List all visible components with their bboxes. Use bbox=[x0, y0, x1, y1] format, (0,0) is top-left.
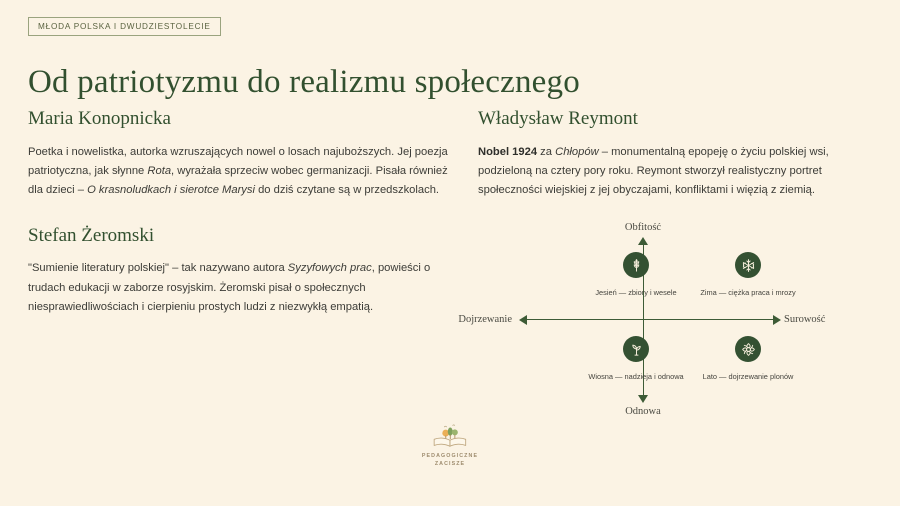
snowflake-icon bbox=[735, 252, 761, 278]
sun-flower-icon bbox=[735, 336, 761, 362]
section-paragraph-zeromski: "Sumienie literatury polskiej" – tak naz… bbox=[28, 259, 448, 317]
section-paragraph-konopnicka: Poetka i nowelistka, autorka wzruszający… bbox=[28, 143, 448, 201]
axis-arrow-right-icon bbox=[773, 315, 781, 325]
text-run: do dziś czytane są w przedszkolach. bbox=[255, 184, 439, 196]
text-run: za bbox=[537, 146, 555, 158]
slide-root: MŁODA POLSKA I DWUDZIESTOLECIE Od patrio… bbox=[0, 0, 900, 506]
section-paragraph-reymont: Nobel 1924 za Chłopów – monumentalną epo… bbox=[478, 143, 878, 201]
quadrant-label-zima: Zima — ciężka praca i mrozy bbox=[700, 288, 796, 299]
axis-label-left: Dojrzewanie bbox=[458, 314, 512, 325]
axis-label-top: Obfitość bbox=[625, 222, 661, 233]
footer-brand: PEDAGOGICZNE ZACISZE bbox=[395, 423, 505, 468]
title-italic-rota: Rota bbox=[147, 165, 171, 177]
horizontal-axis-line bbox=[526, 319, 776, 320]
footer-brand-line-1: PEDAGOGICZNE bbox=[395, 452, 505, 460]
eyebrow-badge: MŁODA POLSKA I DWUDZIESTOLECIE bbox=[28, 17, 221, 36]
quadrant-point-jesien: Jesień — zbiory i wesele bbox=[588, 252, 684, 299]
wheat-sheaf-icon bbox=[623, 252, 649, 278]
axis-label-right: Surowość bbox=[784, 314, 825, 325]
axis-arrow-up-icon bbox=[638, 237, 648, 245]
sprout-icon bbox=[623, 336, 649, 362]
page-title: Od patriotyzmu do realizmu społecznego bbox=[28, 64, 580, 102]
seasons-quadrant-chart: Obfitość Odnowa Dojrzewanie Surowość Jes… bbox=[478, 222, 878, 418]
section-heading-reymont: Władysław Reymont bbox=[478, 108, 878, 131]
eyebrow-wrap: MŁODA POLSKA I DWUDZIESTOLECIE bbox=[28, 16, 221, 36]
axis-label-bottom: Odnowa bbox=[625, 406, 661, 417]
quadrant-label-wiosna: Wiosna — nadzieja i odnowa bbox=[588, 372, 684, 383]
left-column: Maria Konopnicka Poetka i nowelistka, au… bbox=[28, 108, 448, 317]
quadrant-label-lato: Lato — dojrzewanie plonów bbox=[700, 372, 796, 383]
title-italic-syzyfowe-prace: Syzyfowych prac bbox=[288, 262, 372, 274]
text-run: "Sumienie literatury polskiej" – tak naz… bbox=[28, 262, 288, 274]
quadrant-point-wiosna: Wiosna — nadzieja i odnowa bbox=[588, 336, 684, 383]
section-heading-konopnicka: Maria Konopnicka bbox=[28, 108, 448, 131]
open-book-with-trees-icon bbox=[431, 423, 469, 449]
right-column: Władysław Reymont Nobel 1924 za Chłopów … bbox=[478, 108, 878, 201]
quadrant-label-jesien: Jesień — zbiory i wesele bbox=[588, 288, 684, 299]
axis-arrow-left-icon bbox=[519, 315, 527, 325]
footer-brand-name: PEDAGOGICZNE ZACISZE bbox=[395, 452, 505, 468]
title-italic-krasnoludki: O krasnoludkach i sierotce Marysi bbox=[87, 184, 255, 196]
axis-arrow-down-icon bbox=[638, 395, 648, 403]
section-heading-zeromski: Stefan Żeromski bbox=[28, 225, 448, 248]
footer-brand-line-2: ZACISZE bbox=[395, 460, 505, 468]
quadrant-point-zima: Zima — ciężka praca i mrozy bbox=[700, 252, 796, 299]
title-italic-chlopi: Chłopów bbox=[555, 146, 599, 158]
quadrant-point-lato: Lato — dojrzewanie plonów bbox=[700, 336, 796, 383]
nobel-highlight: Nobel 1924 bbox=[478, 146, 537, 158]
